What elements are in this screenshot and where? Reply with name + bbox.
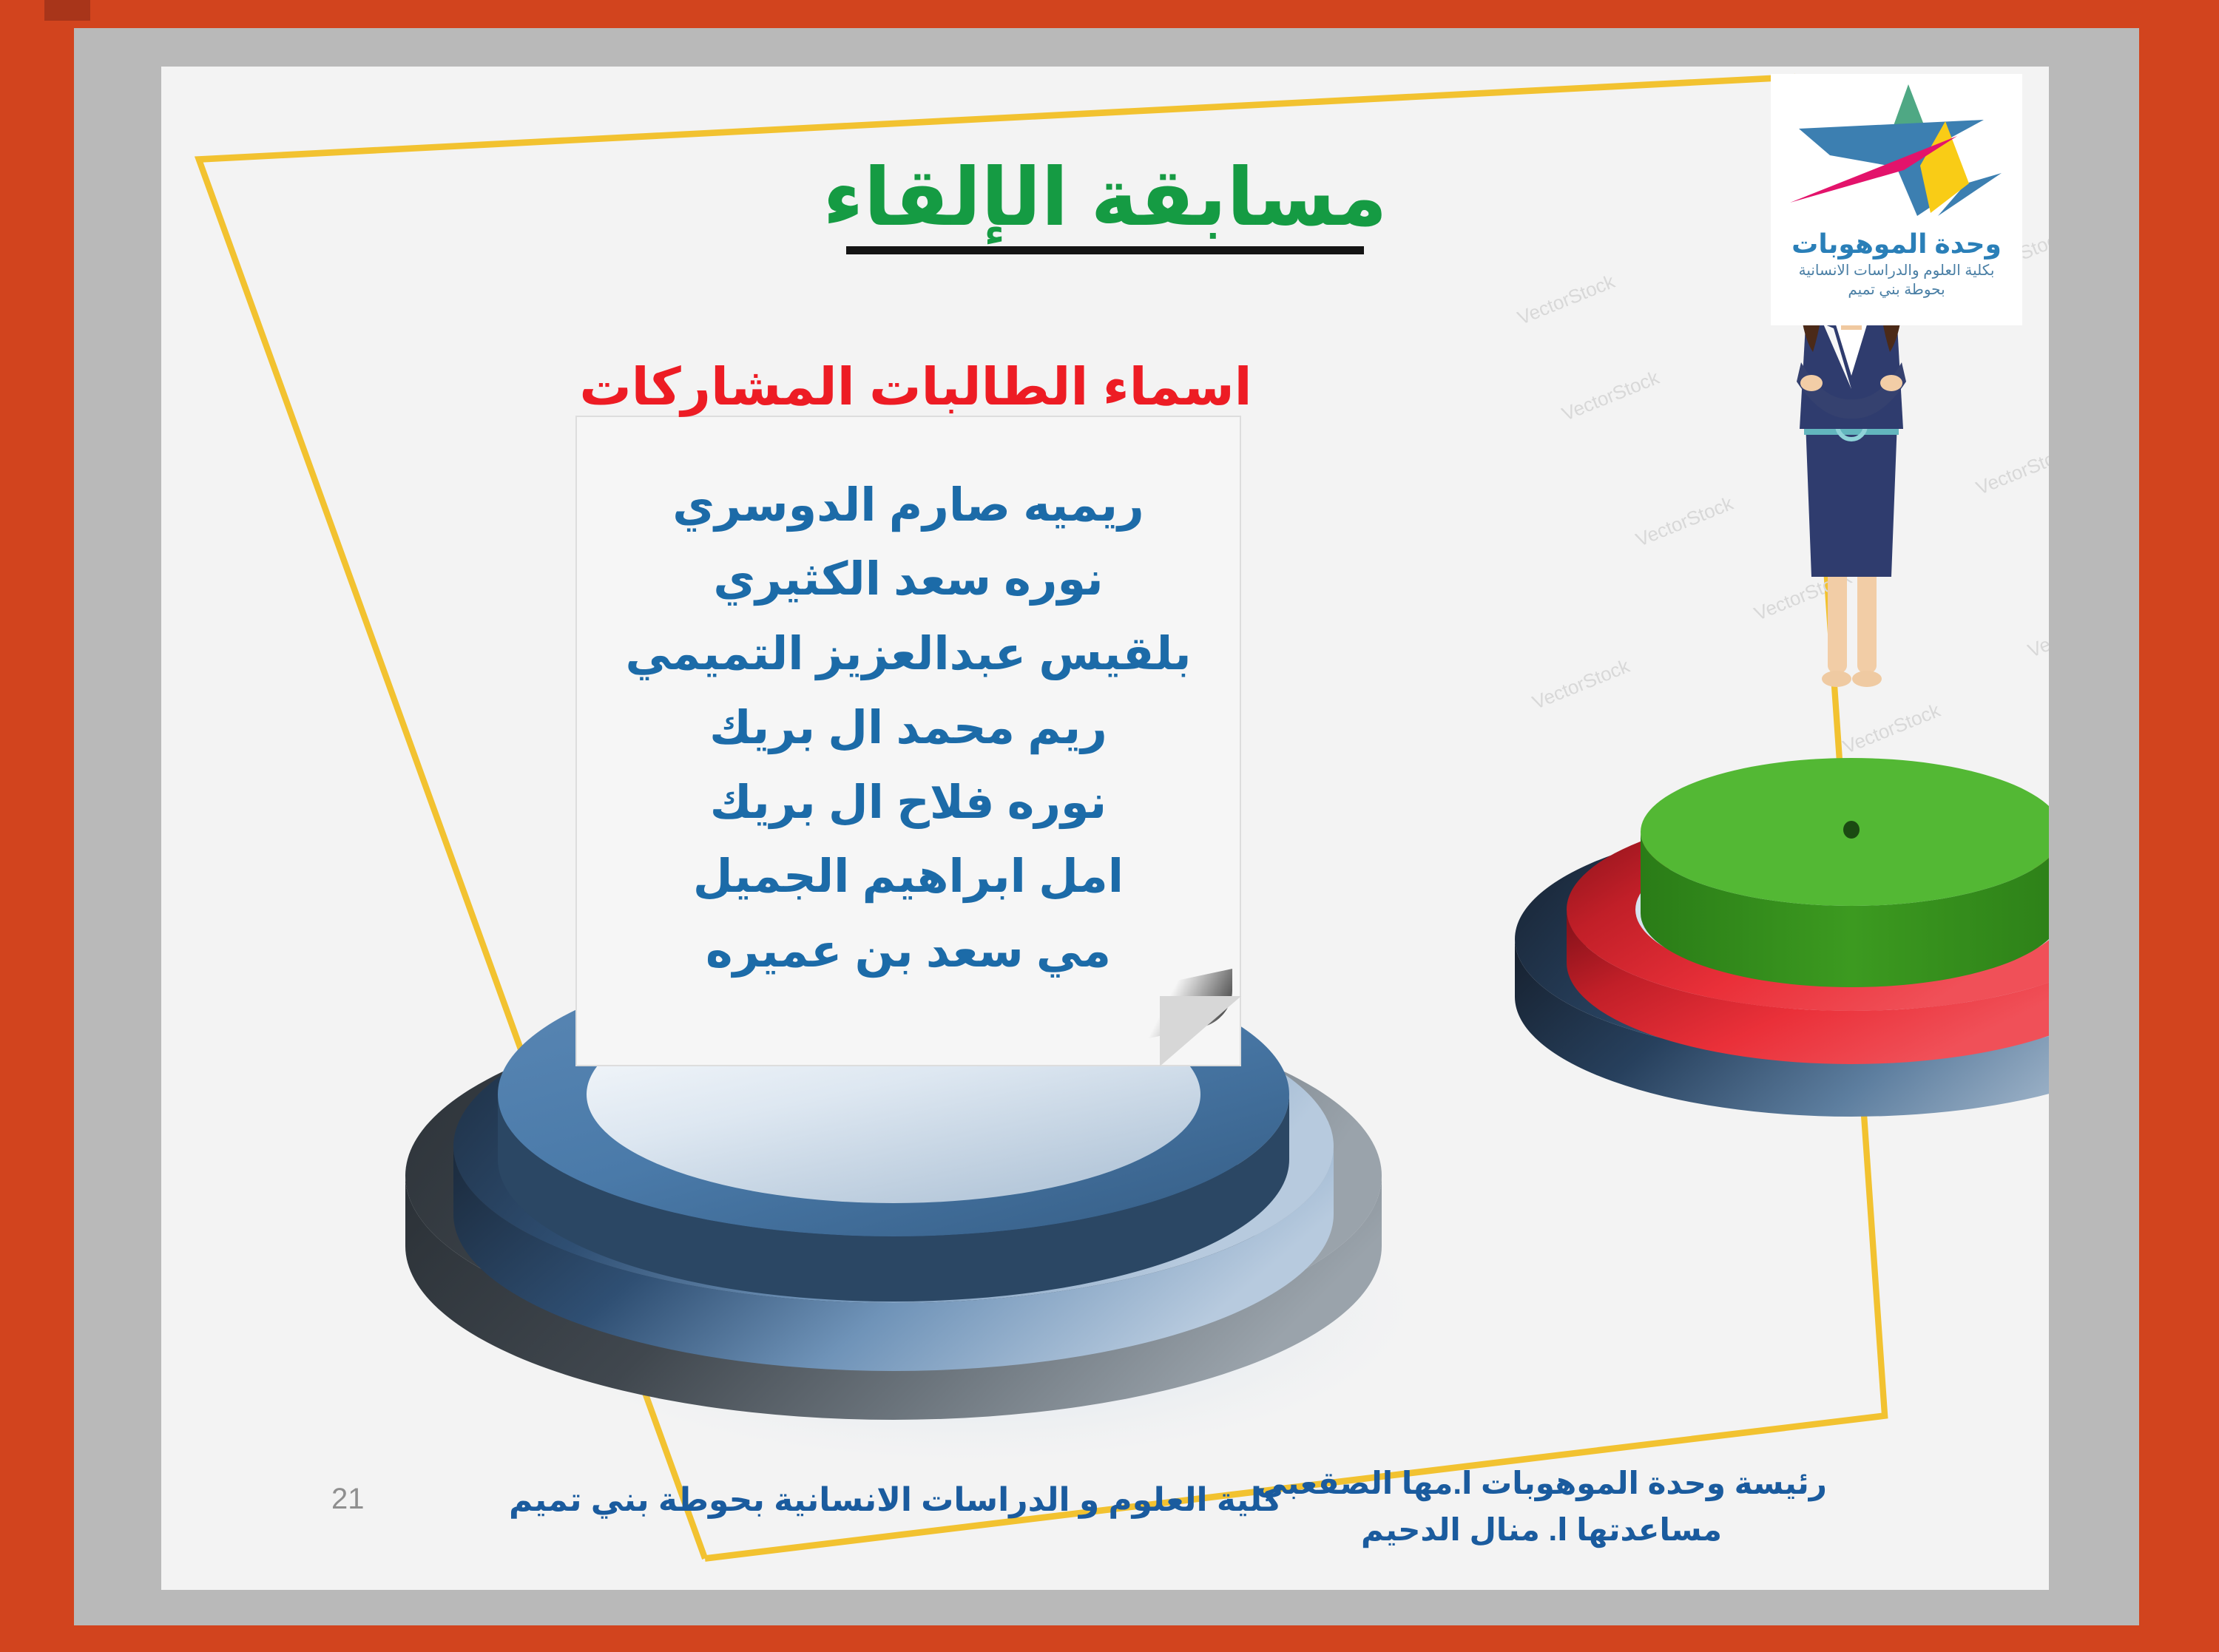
list-item: ريميه صارم الدوسري — [577, 469, 1240, 543]
list-item: امل ابراهيم الجميل — [577, 840, 1240, 914]
footer-credits: رئيسة وحدة الموهوبات ا.مها الصقعبي مساعد… — [1256, 1460, 1827, 1553]
list-item: ريم محمد ال بريك — [577, 691, 1240, 765]
title-underline — [846, 246, 1364, 254]
list-item: نوره سعد الكثيري — [577, 543, 1240, 617]
logo-subtitle-line-2: بحوطة بني تميم — [1778, 282, 2015, 299]
logo-title: وحدة الموهوبات — [1778, 231, 2015, 257]
target-small-graphic — [1485, 643, 2049, 1191]
list-item: نوره فلاح ال بريك — [577, 766, 1240, 840]
footer-organization: كلية العلوم و الدراسات الانسانية بحوطة ب… — [509, 1481, 1282, 1519]
names-card: ريميه صارم الدوسري نوره سعد الكثيري بلقي… — [575, 416, 1241, 1066]
page-fold-corner-icon — [1160, 996, 1241, 1066]
slide-canvas: VectorStock VectorStock VectorStock Vect… — [161, 67, 2049, 1590]
page-number: 21 — [331, 1483, 365, 1516]
unit-logo: وحدة الموهوبات بكلية العلوم والدراسات ال… — [1771, 74, 2022, 325]
list-item: مي سعد بن عميره — [577, 915, 1240, 989]
star-logo-icon — [1786, 78, 2007, 234]
logo-subtitle-line-1: بكلية العلوم والدراسات الانسانية — [1778, 263, 2015, 280]
slide-outer-frame: VectorStock VectorStock VectorStock Vect… — [0, 0, 2219, 1652]
names-list: ريميه صارم الدوسري نوره سعد الكثيري بلقي… — [577, 469, 1240, 989]
bullseye-dot-icon — [1843, 821, 1860, 839]
list-item: بلقيس عبدالعزيز التميمي — [577, 617, 1240, 691]
page-title: مسابقة الإلقاء — [815, 155, 1394, 239]
footer-head-line: رئيسة وحدة الموهوبات ا.مها الصقعبي — [1256, 1460, 1827, 1506]
slide-gutter: VectorStock VectorStock VectorStock Vect… — [74, 28, 2139, 1625]
footer-assistant-line: مساعدتها ا. منال الدحيم — [1256, 1506, 1827, 1553]
participants-heading: اسماء الطالبات المشاركات — [575, 356, 1256, 417]
